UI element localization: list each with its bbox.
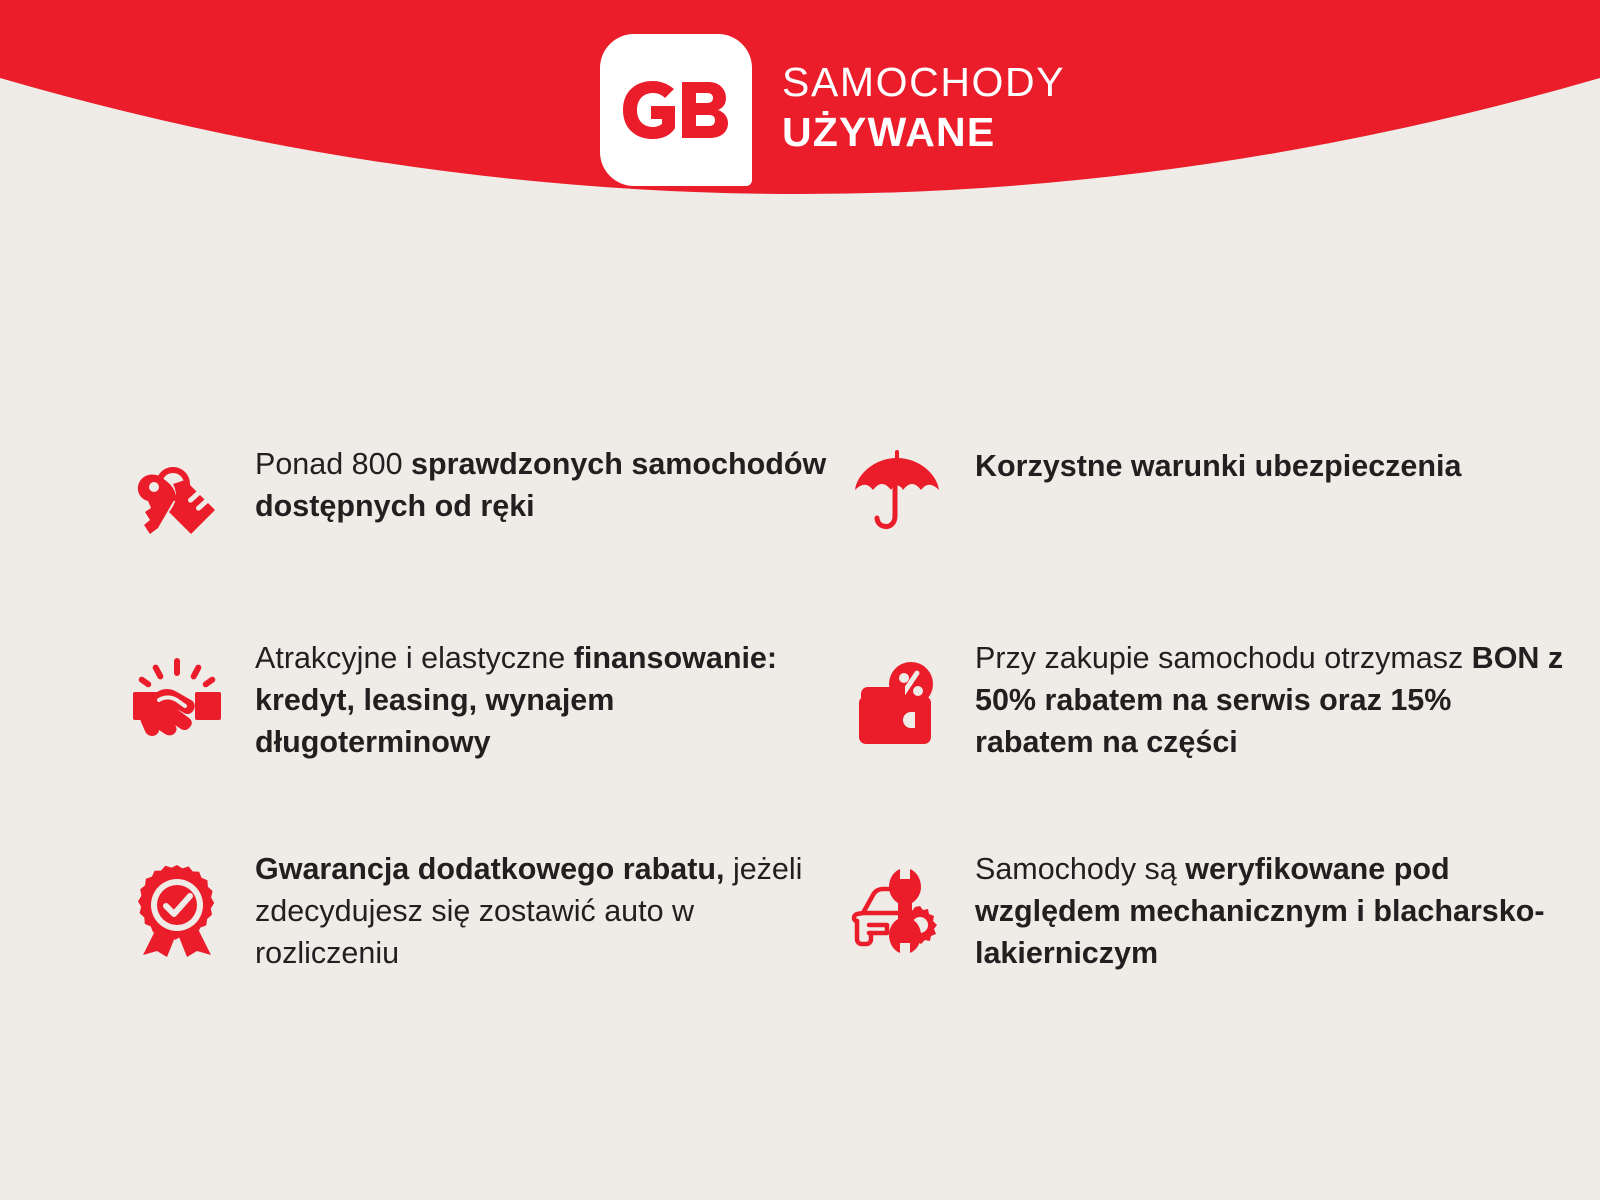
feature-text: Przy zakupie samochodu otrzymasz BON z 5… [975, 634, 1575, 763]
feature-text-bold: Gwarancja dodatkowego rabatu, [255, 852, 724, 886]
features-column-left: Ponad 800 sprawdzonych samochodów dostęp… [125, 440, 845, 975]
feature-item: Atrakcyjne i elastyczne finansowanie: kr… [125, 634, 845, 763]
feature-text-regular: Przy zakupie samochodu otrzymasz [975, 641, 1472, 675]
brand-wordmark: SAMOCHODY UŻYWANE [782, 62, 1065, 159]
brand-line-uzywane: UŻYWANE [782, 112, 1065, 153]
rosette-check-icon [125, 857, 229, 961]
handshake-icon [125, 648, 229, 752]
feature-text-regular: Atrakcyjne i elastyczne [255, 641, 574, 675]
keys-with-tag-icon [125, 452, 229, 556]
features-column-right: Korzystne warunki ubezpieczenia [845, 440, 1600, 975]
header-banner: SAMOCHODY UŻYWANE [0, 0, 1600, 260]
feature-item: Korzystne warunki ubezpieczenia [845, 442, 1600, 542]
brand-line-samochody: SAMOCHODY [782, 62, 1065, 103]
brand-lockup: SAMOCHODY UŻYWANE [600, 34, 1065, 186]
feature-item: Samochody są weryfikowane pod względem m… [845, 845, 1600, 974]
car-wrench-gear-icon [845, 859, 949, 963]
feature-text: Samochody są weryfikowane pod względem m… [975, 845, 1575, 974]
feature-item: Ponad 800 sprawdzonych samochodów dostęp… [125, 440, 845, 556]
feature-item: Przy zakupie samochodu otrzymasz BON z 5… [845, 634, 1600, 763]
feature-text-bold: Korzystne warunki ubezpieczenia [975, 449, 1461, 483]
feature-text: Atrakcyjne i elastyczne finansowanie: kr… [255, 634, 845, 763]
feature-text: Korzystne warunki ubezpieczenia [975, 442, 1461, 488]
gb-monogram-icon [622, 81, 730, 139]
feature-text: Gwarancja dodatkowego rabatu, jeżeli zde… [255, 845, 845, 974]
wallet-percent-icon [845, 652, 949, 756]
feature-text-regular: Ponad 800 [255, 447, 411, 481]
feature-text-regular: Samochody są [975, 852, 1185, 886]
features-grid: Ponad 800 sprawdzonych samochodów dostęp… [0, 440, 1600, 975]
gb-logo-tile[interactable] [600, 34, 752, 186]
umbrella-icon [845, 438, 949, 542]
feature-item: Gwarancja dodatkowego rabatu, jeżeli zde… [125, 845, 845, 974]
feature-text: Ponad 800 sprawdzonych samochodów dostęp… [255, 440, 845, 528]
